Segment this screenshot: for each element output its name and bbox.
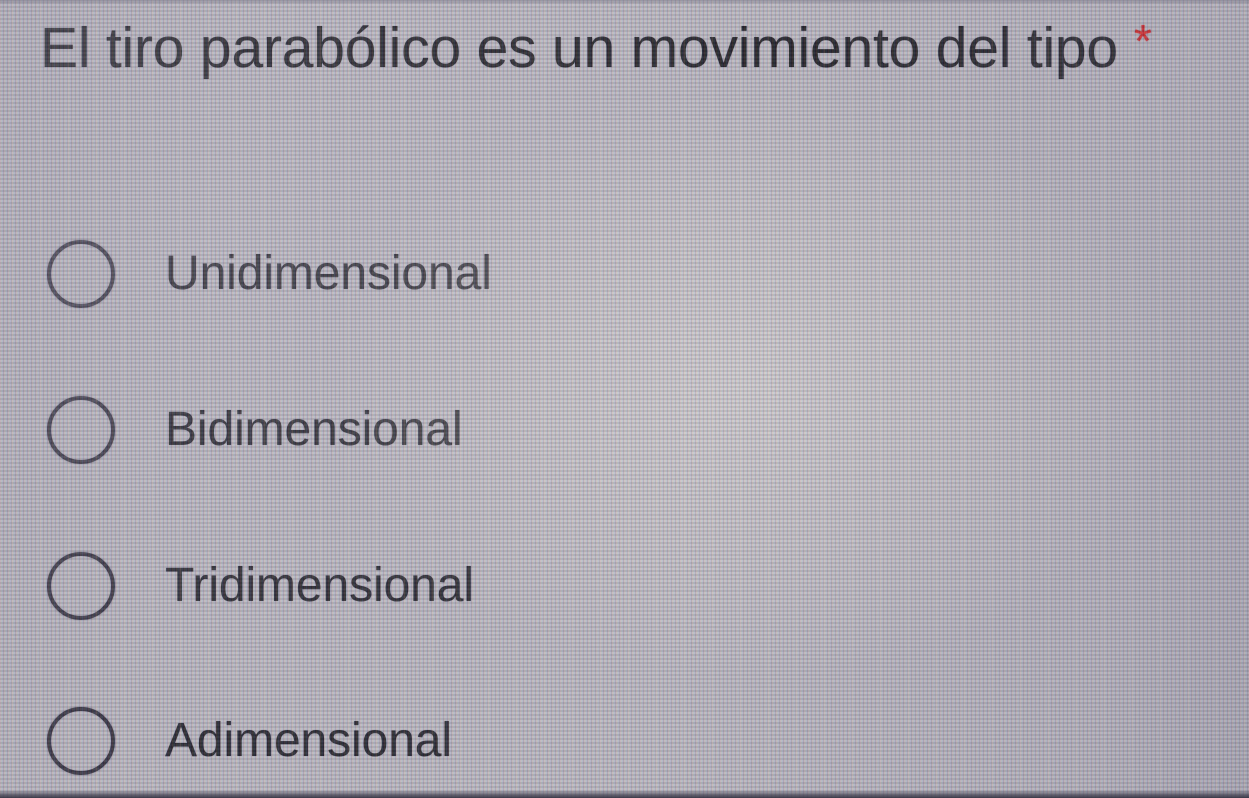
- radio-unchecked-icon[interactable]: [47, 396, 115, 464]
- radio-unchecked-icon[interactable]: [47, 707, 115, 775]
- quiz-content: El tiro parabólico es un movimiento del …: [0, 0, 1249, 798]
- question-prompt: El tiro parabólico es un movimiento del …: [40, 18, 1249, 77]
- option-label-bidimensional: Bidimensional: [165, 406, 463, 454]
- option-row-unidimensional[interactable]: Unidimensional: [0, 196, 1249, 352]
- option-row-bidimensional[interactable]: Bidimensional: [0, 352, 1249, 508]
- required-asterisk-icon: *: [1134, 18, 1152, 64]
- answer-options-list: Unidimensional Bidimensional Tridimensio…: [0, 196, 1249, 798]
- option-row-adimensional[interactable]: Adimensional: [0, 664, 1249, 798]
- option-label-tridimensional: Tridimensional: [165, 562, 474, 610]
- option-label-unidimensional: Unidimensional: [165, 250, 492, 298]
- screen-top-edge: [0, 0, 1249, 4]
- quiz-screen-photo: El tiro parabólico es un movimiento del …: [0, 0, 1249, 798]
- option-row-tridimensional[interactable]: Tridimensional: [0, 508, 1249, 664]
- screen-bottom-edge: [0, 791, 1249, 798]
- radio-unchecked-icon[interactable]: [47, 240, 115, 308]
- question-text: El tiro parabólico es un movimiento del …: [40, 16, 1118, 80]
- radio-unchecked-icon[interactable]: [47, 552, 115, 620]
- option-label-adimensional: Adimensional: [165, 717, 452, 765]
